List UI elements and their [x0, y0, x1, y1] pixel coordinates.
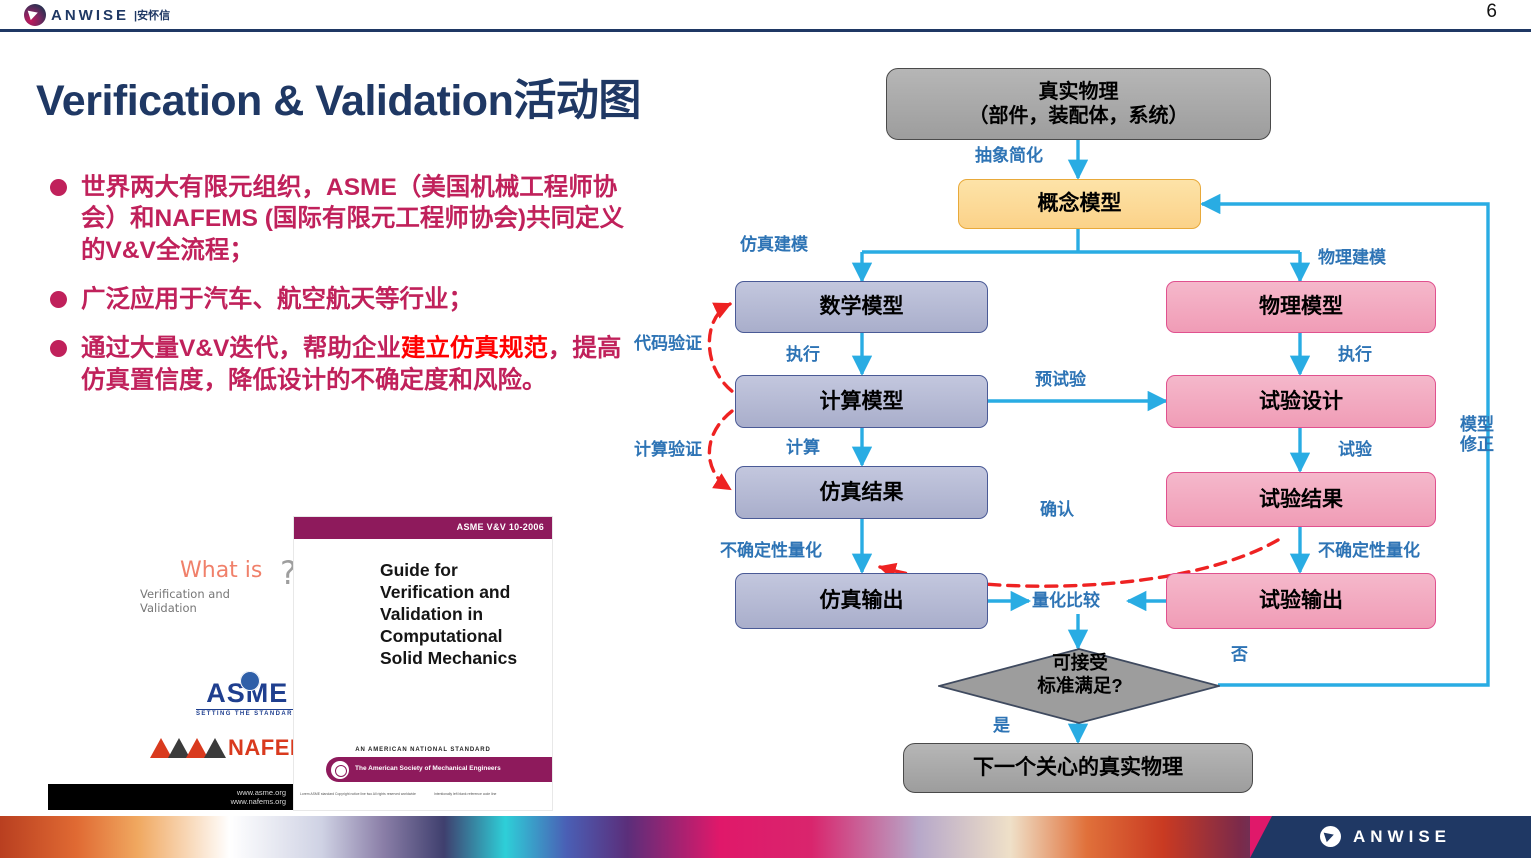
edge-label-uq-left: 不确定性量化 — [720, 541, 822, 561]
footer-anwise-logo: ANWISE — [1320, 826, 1451, 847]
edge-label-exec-right: 执行 — [1338, 345, 1372, 365]
edge-label-yes: 是 — [993, 716, 1010, 736]
edge-label-code-verification: 代码验证 — [634, 334, 702, 354]
node-computational-model[interactable]: 计算模型 — [735, 375, 988, 428]
anwise-footer-logo-icon — [1320, 826, 1341, 847]
node-test-design[interactable]: 试验设计 — [1166, 375, 1436, 428]
node-test-output[interactable]: 试验输出 — [1166, 573, 1436, 629]
edge-label-calc-verification: 计算验证 — [634, 440, 702, 460]
edge-label-uq-right: 不确定性量化 — [1318, 541, 1420, 561]
edge-label-test: 试验 — [1338, 440, 1372, 460]
node-math-model[interactable]: 数学模型 — [735, 281, 988, 333]
node-concept-model[interactable]: 概念模型 — [958, 179, 1201, 229]
node-real-physics[interactable]: 真实物理 （部件，装配体，系统） — [886, 68, 1271, 140]
edge-label-pretest: 预试验 — [1035, 370, 1086, 390]
decision-acceptance-label: 可接受 标准满足? — [985, 652, 1175, 697]
vv-activity-flowchart: 真实物理 （部件，装配体，系统） 概念模型 数学模型 计算模型 仿真结果 仿真输… — [0, 0, 1531, 812]
edge-label-model-update: 模型 修正 — [1460, 415, 1494, 454]
footer-logo-word: ANWISE — [1353, 827, 1451, 847]
edge-label-no: 否 — [1231, 645, 1248, 665]
edge-label-confirm: 确认 — [1040, 500, 1074, 520]
edge-label-phys-modeling: 物理建模 — [1318, 248, 1386, 268]
edge-label-sim-modeling: 仿真建模 — [740, 235, 808, 255]
node-physical-model[interactable]: 物理模型 — [1166, 281, 1436, 333]
edge-label-exec-left: 执行 — [786, 345, 820, 365]
edge-label-quant-compare: 量化比较 — [1032, 591, 1100, 611]
edge-label-calculate: 计算 — [786, 438, 820, 458]
node-simulation-output[interactable]: 仿真输出 — [735, 573, 988, 629]
node-test-result[interactable]: 试验结果 — [1166, 472, 1436, 527]
node-simulation-result[interactable]: 仿真结果 — [735, 466, 988, 519]
edge-label-abstraction: 抽象简化 — [975, 146, 1043, 166]
node-next-physics[interactable]: 下一个关心的真实物理 — [903, 743, 1253, 793]
footer-logo-block: ANWISE — [1250, 816, 1531, 858]
